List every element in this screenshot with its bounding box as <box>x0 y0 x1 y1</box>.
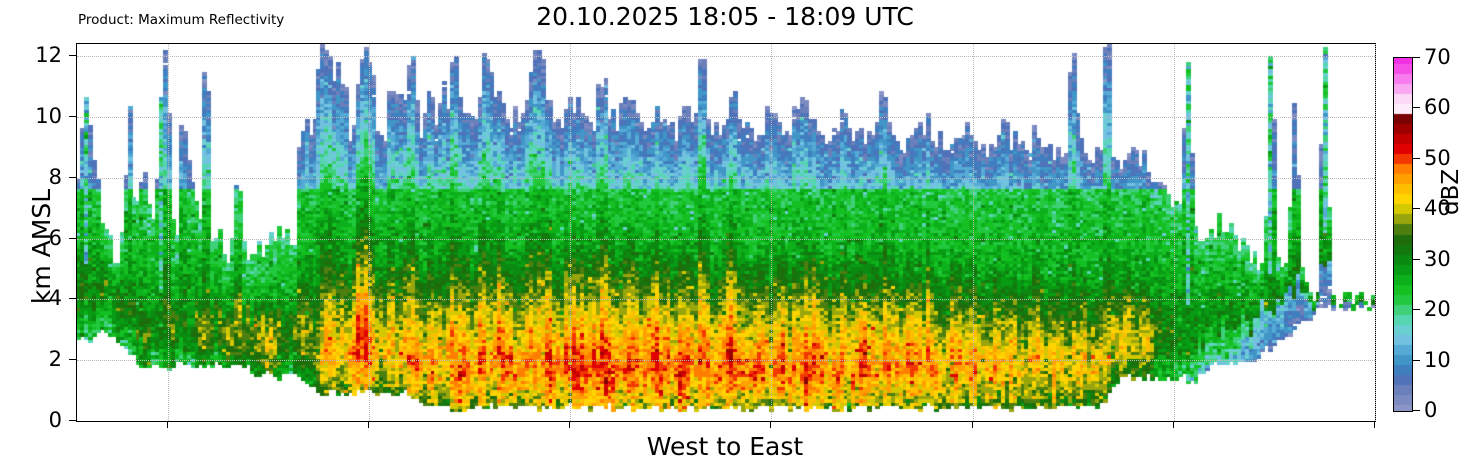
plot-area <box>76 43 1376 422</box>
colorbar-tick-label: 20 <box>1424 297 1451 321</box>
y-tick-label: 2 <box>49 347 62 371</box>
x-tick-mark <box>1374 421 1375 428</box>
y-tick-label: 0 <box>49 408 62 432</box>
colorbar-tick-mark <box>1413 107 1420 108</box>
y-tick-mark <box>69 55 76 56</box>
y-tick-mark <box>69 420 76 421</box>
colorbar-label: dBZ <box>1438 169 1464 215</box>
y-tick-mark <box>69 359 76 360</box>
x-tick-mark <box>569 421 570 428</box>
colorbar-tick-mark <box>1413 57 1420 58</box>
y-tick-label: 12 <box>35 43 62 67</box>
y-axis-label: km AMSL <box>27 189 56 304</box>
colorbar-tick-label: 0 <box>1424 398 1437 422</box>
x-tick-mark <box>368 421 369 428</box>
x-tick-mark <box>972 421 973 428</box>
colorbar-tick-mark <box>1413 208 1420 209</box>
y-tick-mark <box>69 238 76 239</box>
y-tick-label: 10 <box>35 104 62 128</box>
y-tick-mark <box>69 116 76 117</box>
colorbar-tick-label: 10 <box>1424 348 1451 372</box>
colorbar-tick-label: 60 <box>1424 95 1451 119</box>
y-tick-mark <box>69 177 76 178</box>
gridline-vertical <box>1375 44 1376 421</box>
colorbar-tick-label: 70 <box>1424 45 1451 69</box>
radar-cross-section-figure: Product: Maximum Reflectivity 20.10.2025… <box>0 0 1482 470</box>
colorbar-tick-mark <box>1413 360 1420 361</box>
x-tick-mark <box>167 421 168 428</box>
colorbar-tick-mark <box>1413 259 1420 260</box>
x-axis-label: West to East <box>76 432 1374 461</box>
x-tick-mark <box>770 421 771 428</box>
y-tick-label: 8 <box>49 165 62 189</box>
colorbar-gradient-canvas <box>1394 58 1412 411</box>
colorbar-tick-mark <box>1413 410 1420 411</box>
colorbar-tick-mark <box>1413 309 1420 310</box>
colorbar-tick-label: 30 <box>1424 247 1451 271</box>
page-title: 20.10.2025 18:05 - 18:09 UTC <box>76 2 1374 31</box>
reflectivity-heatmap-canvas <box>77 44 1375 421</box>
colorbar <box>1393 57 1413 412</box>
colorbar-tick-label: 50 <box>1424 146 1451 170</box>
x-tick-mark <box>1173 421 1174 428</box>
y-tick-mark <box>69 298 76 299</box>
colorbar-tick-mark <box>1413 158 1420 159</box>
